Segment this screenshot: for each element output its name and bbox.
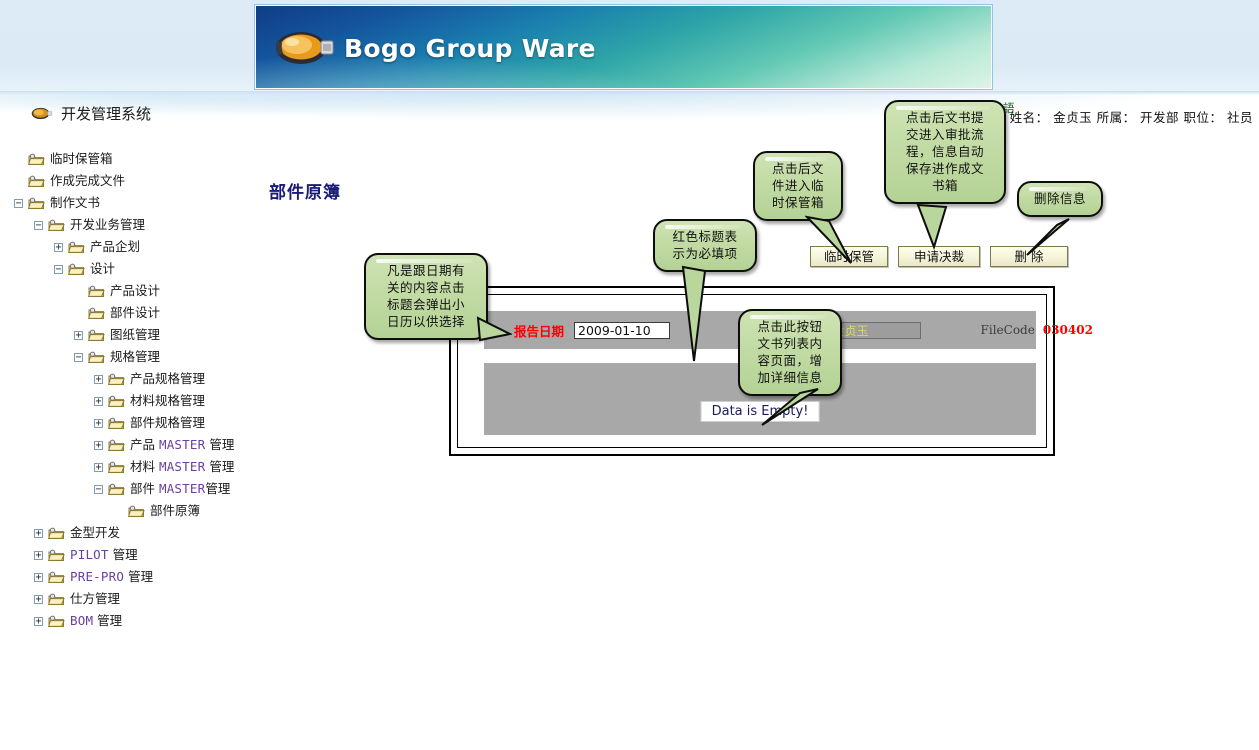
collapse-icon[interactable]: − xyxy=(34,221,43,230)
tree-label-latin: BOM xyxy=(70,613,93,628)
goggles-icon xyxy=(274,28,336,68)
tree-item-label: 部件 MASTER管理 xyxy=(130,482,230,496)
page-title: 部件原簿 xyxy=(269,178,341,203)
folder-icon-wrap xyxy=(88,307,110,320)
tree-label-latin: PRE-PRO xyxy=(70,569,124,584)
folder-icon xyxy=(88,329,105,342)
tree-item-label: PRE-PRO 管理 xyxy=(70,570,153,584)
folder-icon-wrap xyxy=(68,241,90,254)
expand-icon[interactable]: + xyxy=(34,595,43,604)
tree-item[interactable]: −开发业务管理 xyxy=(0,214,260,236)
folder-icon xyxy=(48,527,65,540)
folder-icon xyxy=(68,263,85,276)
folder-icon xyxy=(48,549,65,562)
folder-icon-wrap xyxy=(108,373,130,386)
folder-icon xyxy=(108,417,125,430)
callout-date-help: 凡是跟日期有 关的内容点击 标题会弹出小 日历以供选择 xyxy=(364,253,488,340)
tree-item-label: 制作文书 xyxy=(50,196,100,210)
folder-icon xyxy=(108,483,125,496)
folder-icon xyxy=(128,505,145,518)
folder-icon-wrap xyxy=(88,285,110,298)
tree-spacer xyxy=(14,177,23,186)
tree-item-label: 产品规格管理 xyxy=(130,372,205,386)
tree-item[interactable]: +图纸管理 xyxy=(0,324,260,346)
collapse-icon[interactable]: − xyxy=(14,199,23,208)
expand-icon[interactable]: + xyxy=(34,529,43,538)
tree-item[interactable]: +BOM 管理 xyxy=(0,610,260,632)
tree-item-label: 产品 MASTER 管理 xyxy=(130,438,234,452)
collapse-icon[interactable]: − xyxy=(54,265,63,274)
callout-red-label: 红色标题表 示为必填项 xyxy=(653,219,757,272)
folder-icon xyxy=(108,395,125,408)
callout-tail xyxy=(916,203,950,251)
system-title-row: 开发管理系统 xyxy=(31,103,151,124)
tree-item-label: 设计 xyxy=(90,262,115,276)
tree-item[interactable]: +产品企划 xyxy=(0,236,260,258)
expand-icon[interactable]: + xyxy=(34,551,43,560)
tree-item-label: 部件设计 xyxy=(110,306,160,320)
tree-item[interactable]: −设计 xyxy=(0,258,260,280)
tree-spacer xyxy=(74,287,83,296)
app-banner: Bogo Group Ware xyxy=(255,5,992,89)
app-root: Bogo Group Ware 开发管理系统 한국어 中文 日本語 姓名： 金贞… xyxy=(0,0,1259,750)
goggles-small-icon xyxy=(31,106,53,121)
folder-icon-wrap xyxy=(48,219,70,232)
tree-label-latin: MASTER xyxy=(159,437,205,452)
tree-item[interactable]: −部件 MASTER管理 xyxy=(0,478,260,500)
tree-item-label: 仕方管理 xyxy=(70,592,120,606)
system-title-label: 开发管理系统 xyxy=(61,103,151,124)
folder-icon xyxy=(28,197,45,210)
tree-item-label: 图纸管理 xyxy=(110,328,160,342)
tree-spacer xyxy=(114,507,123,516)
tree-item-label: 金型开发 xyxy=(70,526,120,540)
folder-icon-wrap xyxy=(88,329,110,342)
tree-item[interactable]: 临时保管箱 xyxy=(0,148,260,170)
tree-item-label: 产品企划 xyxy=(90,240,140,254)
folder-icon-wrap xyxy=(128,505,150,518)
callout-tail xyxy=(679,265,709,365)
folder-icon xyxy=(48,615,65,628)
folder-icon-wrap xyxy=(28,197,50,210)
tree-item[interactable]: +产品 MASTER 管理 xyxy=(0,434,260,456)
callout-tail xyxy=(476,316,512,346)
tree-item[interactable]: −制作文书 xyxy=(0,192,260,214)
callout-add-detail-text: 点击此按钮 文书列表内 容页面，增 加详细信息 xyxy=(738,309,842,396)
callout-add-detail: 点击此按钮 文书列表内 容页面，增 加详细信息 xyxy=(738,309,842,396)
folder-icon-wrap xyxy=(68,263,90,276)
folder-icon-wrap xyxy=(108,395,130,408)
folder-icon-wrap xyxy=(108,417,130,430)
callout-date-help-text: 凡是跟日期有 关的内容点击 标题会弹出小 日历以供选择 xyxy=(364,253,488,340)
callout-temp-store: 点击后文 件进入临 时保管箱 xyxy=(753,151,843,221)
expand-icon[interactable]: + xyxy=(74,331,83,340)
folder-icon xyxy=(28,175,45,188)
folder-icon xyxy=(88,351,105,364)
folder-icon-wrap xyxy=(28,153,50,166)
filecode-label: FileCode xyxy=(981,323,1035,337)
tree-item-label: BOM 管理 xyxy=(70,614,122,628)
expand-icon[interactable]: + xyxy=(34,573,43,582)
tree-spacer xyxy=(74,309,83,318)
collapse-icon[interactable]: − xyxy=(94,485,103,494)
expand-icon[interactable]: + xyxy=(54,243,63,252)
tree-item[interactable]: 部件设计 xyxy=(0,302,260,324)
callout-tail xyxy=(1025,217,1071,259)
top-band-edge xyxy=(0,91,1259,95)
folder-icon xyxy=(48,219,65,232)
folder-icon xyxy=(108,439,125,452)
tree-item[interactable]: +材料 MASTER 管理 xyxy=(0,456,260,478)
tree-label-latin: MASTER xyxy=(159,459,205,474)
tree-label-latin: MASTER xyxy=(159,481,205,496)
expand-icon[interactable]: + xyxy=(34,617,43,626)
collapse-icon[interactable]: − xyxy=(74,353,83,362)
folder-icon-wrap xyxy=(28,175,50,188)
report-date-input[interactable] xyxy=(574,322,670,339)
callout-submit-flow-text: 点击后文书提 交进入审批流 程，信息自动 保存进作成文 书箱 xyxy=(884,100,1006,204)
callout-temp-store-text: 点击后文 件进入临 时保管箱 xyxy=(753,151,843,221)
folder-icon-wrap xyxy=(108,439,130,452)
callout-tail xyxy=(760,387,822,429)
callout-delete-info: 删除信息 xyxy=(1017,181,1103,217)
folder-icon xyxy=(88,285,105,298)
tree-item-label: 部件原簿 xyxy=(150,504,200,518)
tree-item[interactable]: +仕方管理 xyxy=(0,588,260,610)
expand-icon[interactable]: + xyxy=(94,419,103,428)
folder-icon xyxy=(88,307,105,320)
tree-item-label: 开发业务管理 xyxy=(70,218,145,232)
tree-item[interactable]: 作成完成文件 xyxy=(0,170,260,192)
tree-item[interactable]: −规格管理 xyxy=(0,346,260,368)
folder-icon-wrap xyxy=(48,571,70,584)
expand-icon[interactable]: + xyxy=(94,441,103,450)
folder-icon-wrap xyxy=(48,593,70,606)
folder-icon-wrap xyxy=(88,351,110,364)
folder-icon xyxy=(108,461,125,474)
filecode-value: 030402 xyxy=(1043,323,1093,337)
tree-item-label: 产品设计 xyxy=(110,284,160,298)
tree-item-label: 作成完成文件 xyxy=(50,174,125,188)
folder-icon-wrap xyxy=(48,549,70,562)
expand-icon[interactable]: + xyxy=(94,463,103,472)
folder-icon-wrap xyxy=(48,527,70,540)
folder-icon xyxy=(108,373,125,386)
expand-icon[interactable]: + xyxy=(94,397,103,406)
banner-title: Bogo Group Ware xyxy=(344,34,596,63)
callout-tail xyxy=(805,215,855,267)
reporter-input[interactable] xyxy=(829,322,921,339)
tree-item-label: 材料规格管理 xyxy=(130,394,205,408)
tree-item-label: 部件规格管理 xyxy=(130,416,205,430)
navigation-tree[interactable]: 临时保管箱作成完成文件−制作文书−开发业务管理+产品企划−设计产品设计部件设计+… xyxy=(0,148,260,632)
tree-item[interactable]: +PRE-PRO 管理 xyxy=(0,566,260,588)
tree-item-label: PILOT 管理 xyxy=(70,548,138,562)
tree-item[interactable]: +产品规格管理 xyxy=(0,368,260,390)
tree-item-label: 临时保管箱 xyxy=(50,152,113,166)
tree-item[interactable]: +部件规格管理 xyxy=(0,412,260,434)
tree-item[interactable]: +材料规格管理 xyxy=(0,390,260,412)
report-date-label[interactable]: 报告日期 xyxy=(514,321,564,340)
callout-delete-info-text: 删除信息 xyxy=(1017,181,1103,217)
folder-icon xyxy=(48,593,65,606)
tree-item[interactable]: +金型开发 xyxy=(0,522,260,544)
tree-item[interactable]: 部件原簿 xyxy=(0,500,260,522)
tree-spacer xyxy=(14,155,23,164)
folder-icon-wrap xyxy=(108,461,130,474)
folder-icon-wrap xyxy=(108,483,130,496)
folder-icon xyxy=(48,571,65,584)
folder-icon xyxy=(28,153,45,166)
user-info: 姓名： 金贞玉 所属： 开发部 职位： 社员 xyxy=(1010,107,1253,126)
tree-item-label: 规格管理 xyxy=(110,350,160,364)
folder-icon xyxy=(68,241,85,254)
callout-submit-flow: 点击后文书提 交进入审批流 程，信息自动 保存进作成文 书箱 xyxy=(884,100,1006,204)
tree-item-label: 材料 MASTER 管理 xyxy=(130,460,234,474)
tree-label-latin: PILOT xyxy=(70,547,109,562)
tree-item[interactable]: +PILOT 管理 xyxy=(0,544,260,566)
folder-icon-wrap xyxy=(48,615,70,628)
tree-item[interactable]: 产品设计 xyxy=(0,280,260,302)
expand-icon[interactable]: + xyxy=(94,375,103,384)
